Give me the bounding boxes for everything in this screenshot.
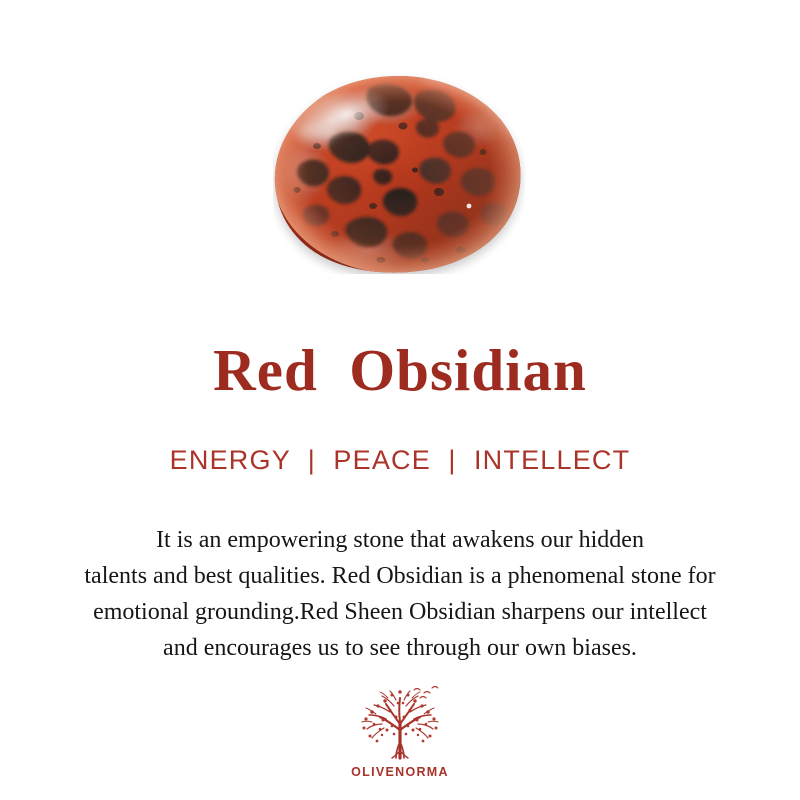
description-line: It is an empowering stone that awakens o…	[30, 522, 770, 558]
page-title: Red Obsidian	[0, 335, 800, 405]
brand-wordmark: OLIVENORMA	[351, 765, 449, 779]
description-line: and encourages us to see through our own…	[30, 630, 770, 666]
product-description: It is an empowering stone that awakens o…	[30, 522, 770, 666]
keyword-subtitle: ENERGY | PEACE | INTELLECT	[0, 443, 800, 477]
tree-logo-icon	[352, 684, 448, 764]
description-line: emotional grounding.Red Sheen Obsidian s…	[30, 594, 770, 630]
product-image-container	[273, 74, 525, 274]
red-obsidian-stone	[273, 74, 525, 274]
brand-logo: OLIVENORMA	[0, 684, 800, 779]
description-line: talents and best qualities. Red Obsidian…	[30, 558, 770, 594]
product-info-card: Red Obsidian ENERGY | PEACE | INTELLECT …	[0, 0, 800, 800]
